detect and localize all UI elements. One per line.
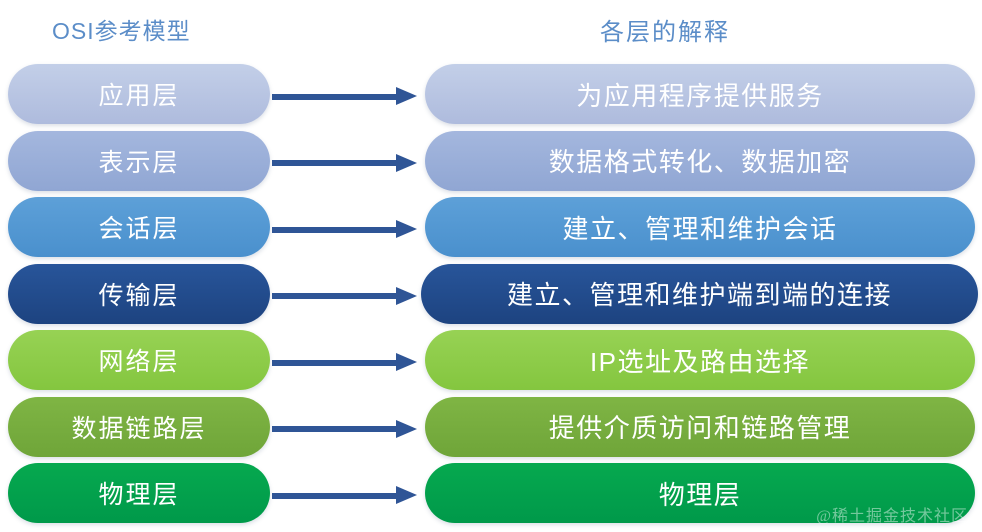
- osi-layer-row: 网络层IP选址及路由选择: [0, 327, 982, 394]
- osi-layer-row: 传输层建立、管理和维护端到端的连接: [0, 261, 982, 328]
- layer-description-label: IP选址及路由选择: [590, 342, 810, 379]
- arrow-shaft: [272, 227, 400, 233]
- layer-description-pill[interactable]: 提供介质访问和链路管理: [425, 397, 975, 457]
- arrow-right-icon: [272, 158, 424, 168]
- arrow-shaft: [272, 160, 400, 166]
- layer-description-label: 建立、管理和维护会话: [562, 209, 837, 246]
- layer-name-pill[interactable]: 应用层: [8, 64, 270, 124]
- osi-layer-list: 应用层为应用程序提供服务表示层数据格式转化、数据加密会话层建立、管理和维护会话传…: [0, 61, 982, 527]
- layer-name-pill[interactable]: 传输层: [8, 264, 270, 324]
- arrow-right-icon: [272, 490, 424, 500]
- arrow-right-icon: [272, 91, 424, 101]
- layer-description-label: 提供介质访问和链路管理: [549, 408, 852, 445]
- layer-name-pill[interactable]: 数据链路层: [8, 397, 270, 457]
- layer-name-label: 物理层: [98, 475, 179, 511]
- arrow-head: [396, 220, 417, 238]
- layer-description-pill[interactable]: 数据格式转化、数据加密: [425, 131, 975, 191]
- layer-description-label: 物理层: [659, 475, 742, 512]
- layer-name-label: 传输层: [98, 276, 179, 312]
- layer-description-label: 建立、管理和维护端到端的连接: [507, 275, 892, 312]
- layer-description-label: 数据格式转化、数据加密: [549, 142, 852, 179]
- arrow-shaft: [272, 360, 400, 366]
- layer-description-pill[interactable]: IP选址及路由选择: [425, 330, 975, 390]
- arrow-head: [396, 420, 417, 438]
- arrow-shaft: [272, 426, 400, 432]
- arrow-head: [396, 87, 417, 105]
- arrow-head: [396, 154, 417, 172]
- arrow-head: [396, 353, 417, 371]
- watermark: @稀土掘金技术社区: [816, 502, 968, 526]
- osi-layer-row: 应用层为应用程序提供服务: [0, 61, 982, 128]
- arrow-shaft: [272, 493, 400, 499]
- arrow-shaft: [272, 293, 400, 299]
- layer-name-label: 网络层: [98, 342, 179, 378]
- layer-name-label: 表示层: [98, 143, 179, 179]
- osi-model-heading: OSI参考模型: [52, 12, 191, 46]
- osi-layer-row: 数据链路层提供介质访问和链路管理: [0, 394, 982, 461]
- osi-layer-row: 表示层数据格式转化、数据加密: [0, 128, 982, 195]
- layer-name-pill[interactable]: 网络层: [8, 330, 270, 390]
- layer-name-pill[interactable]: 表示层: [8, 131, 270, 191]
- layer-name-label: 应用层: [98, 76, 179, 112]
- arrow-head: [396, 287, 417, 305]
- layer-name-pill[interactable]: 物理层: [8, 463, 270, 523]
- layer-explanation-heading: 各层的解释: [600, 12, 730, 47]
- arrow-head: [396, 486, 417, 504]
- arrow-right-icon: [272, 424, 424, 434]
- arrow-right-icon: [272, 224, 424, 234]
- layer-description-pill[interactable]: 建立、管理和维护端到端的连接: [421, 264, 978, 324]
- arrow-shaft: [272, 94, 400, 100]
- layer-description-label: 为应用程序提供服务: [576, 76, 824, 113]
- layer-description-pill[interactable]: 建立、管理和维护会话: [425, 197, 975, 257]
- layer-name-label: 数据链路层: [71, 409, 206, 445]
- osi-layer-row: 会话层建立、管理和维护会话: [0, 194, 982, 261]
- arrow-right-icon: [272, 291, 424, 301]
- layer-name-label: 会话层: [98, 209, 179, 245]
- layer-name-pill[interactable]: 会话层: [8, 197, 270, 257]
- layer-description-pill[interactable]: 为应用程序提供服务: [425, 64, 975, 124]
- arrow-right-icon: [272, 357, 424, 367]
